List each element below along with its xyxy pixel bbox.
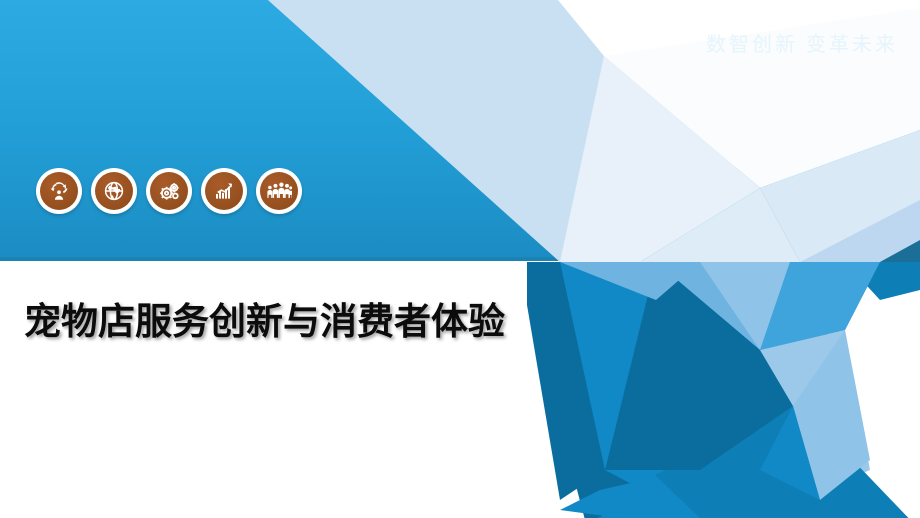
polygon-artwork [0, 0, 920, 518]
bar-chart-growth-icon[interactable] [201, 168, 247, 214]
recycle-people-icon-disc [40, 172, 78, 210]
people-group-icon[interactable] [256, 168, 302, 214]
presentation-title-slide: 数智创新 变革未来 [0, 0, 920, 518]
recycle-people-icon[interactable] [36, 168, 82, 214]
people-group-icon-disc [260, 172, 298, 210]
icon-row [36, 168, 302, 214]
gears-icon-disc [150, 172, 188, 210]
tagline: 数智创新 变革未来 [706, 28, 898, 57]
globe-icon[interactable] [91, 168, 137, 214]
bar-chart-growth-icon-disc [205, 172, 243, 210]
globe-icon-disc [95, 172, 133, 210]
gears-icon[interactable] [146, 168, 192, 214]
page-title: 宠物店服务创新与消费者体验 [24, 296, 524, 349]
